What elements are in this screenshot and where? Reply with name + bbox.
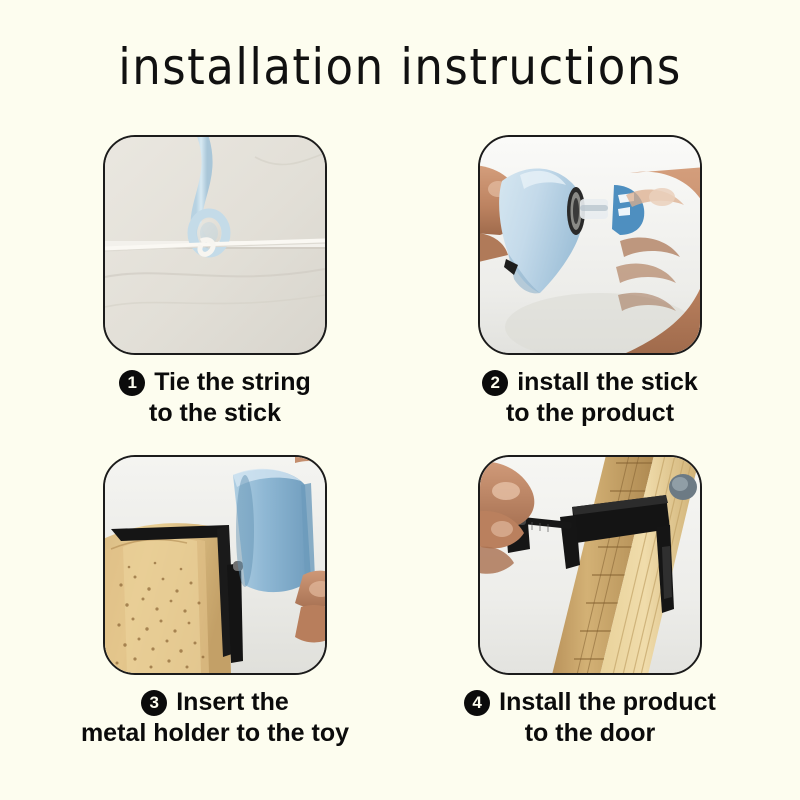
step-3-photo (103, 455, 327, 675)
install-product-to-door-illustration (480, 457, 700, 673)
installation-instructions-page: installation instructions (0, 0, 800, 800)
step-3: 3Insert the metal holder to the toy (50, 450, 380, 749)
step-4-text-1: Install the product (499, 688, 716, 716)
step-4-badge: 4 (464, 690, 490, 716)
tie-string-to-stick-illustration (105, 137, 325, 353)
step-1: 1Tie the string to the stick (50, 130, 380, 429)
step-2-text-1: install the stick (517, 368, 698, 396)
step-2-caption: 2install the stick to the product (425, 367, 755, 429)
step-1-line-2: to the stick (50, 398, 380, 429)
step-1-photo (103, 135, 327, 355)
step-4-caption: 4Install the product to the door (425, 687, 755, 749)
step-2: 2install the stick to the product (425, 130, 755, 429)
step-4-photo (478, 455, 702, 675)
insert-metal-holder-to-toy-illustration (105, 457, 325, 673)
step-1-badge: 1 (119, 370, 145, 396)
step-3-line-2: metal holder to the toy (50, 718, 380, 749)
page-title: installation instructions (0, 38, 800, 96)
step-3-caption: 3Insert the metal holder to the toy (50, 687, 380, 749)
step-2-badge: 2 (482, 370, 508, 396)
step-1-line-1: 1Tie the string (50, 367, 380, 398)
step-3-line-1: 3Insert the (50, 687, 380, 718)
steps-grid: 1Tie the string to the stick (0, 130, 800, 770)
step-3-badge: 3 (141, 690, 167, 716)
step-4-line-2: to the door (425, 718, 755, 749)
step-2-line-2: to the product (425, 398, 755, 429)
step-2-line-1: 2install the stick (425, 367, 755, 398)
step-1-text-1: Tie the string (154, 368, 311, 396)
step-4-line-1: 4Install the product (425, 687, 755, 718)
step-3-text-1: Insert the (176, 688, 289, 716)
step-4: 4Install the product to the door (425, 450, 755, 749)
step-1-caption: 1Tie the string to the stick (50, 367, 380, 429)
install-stick-to-product-illustration (480, 137, 700, 353)
step-2-photo (478, 135, 702, 355)
